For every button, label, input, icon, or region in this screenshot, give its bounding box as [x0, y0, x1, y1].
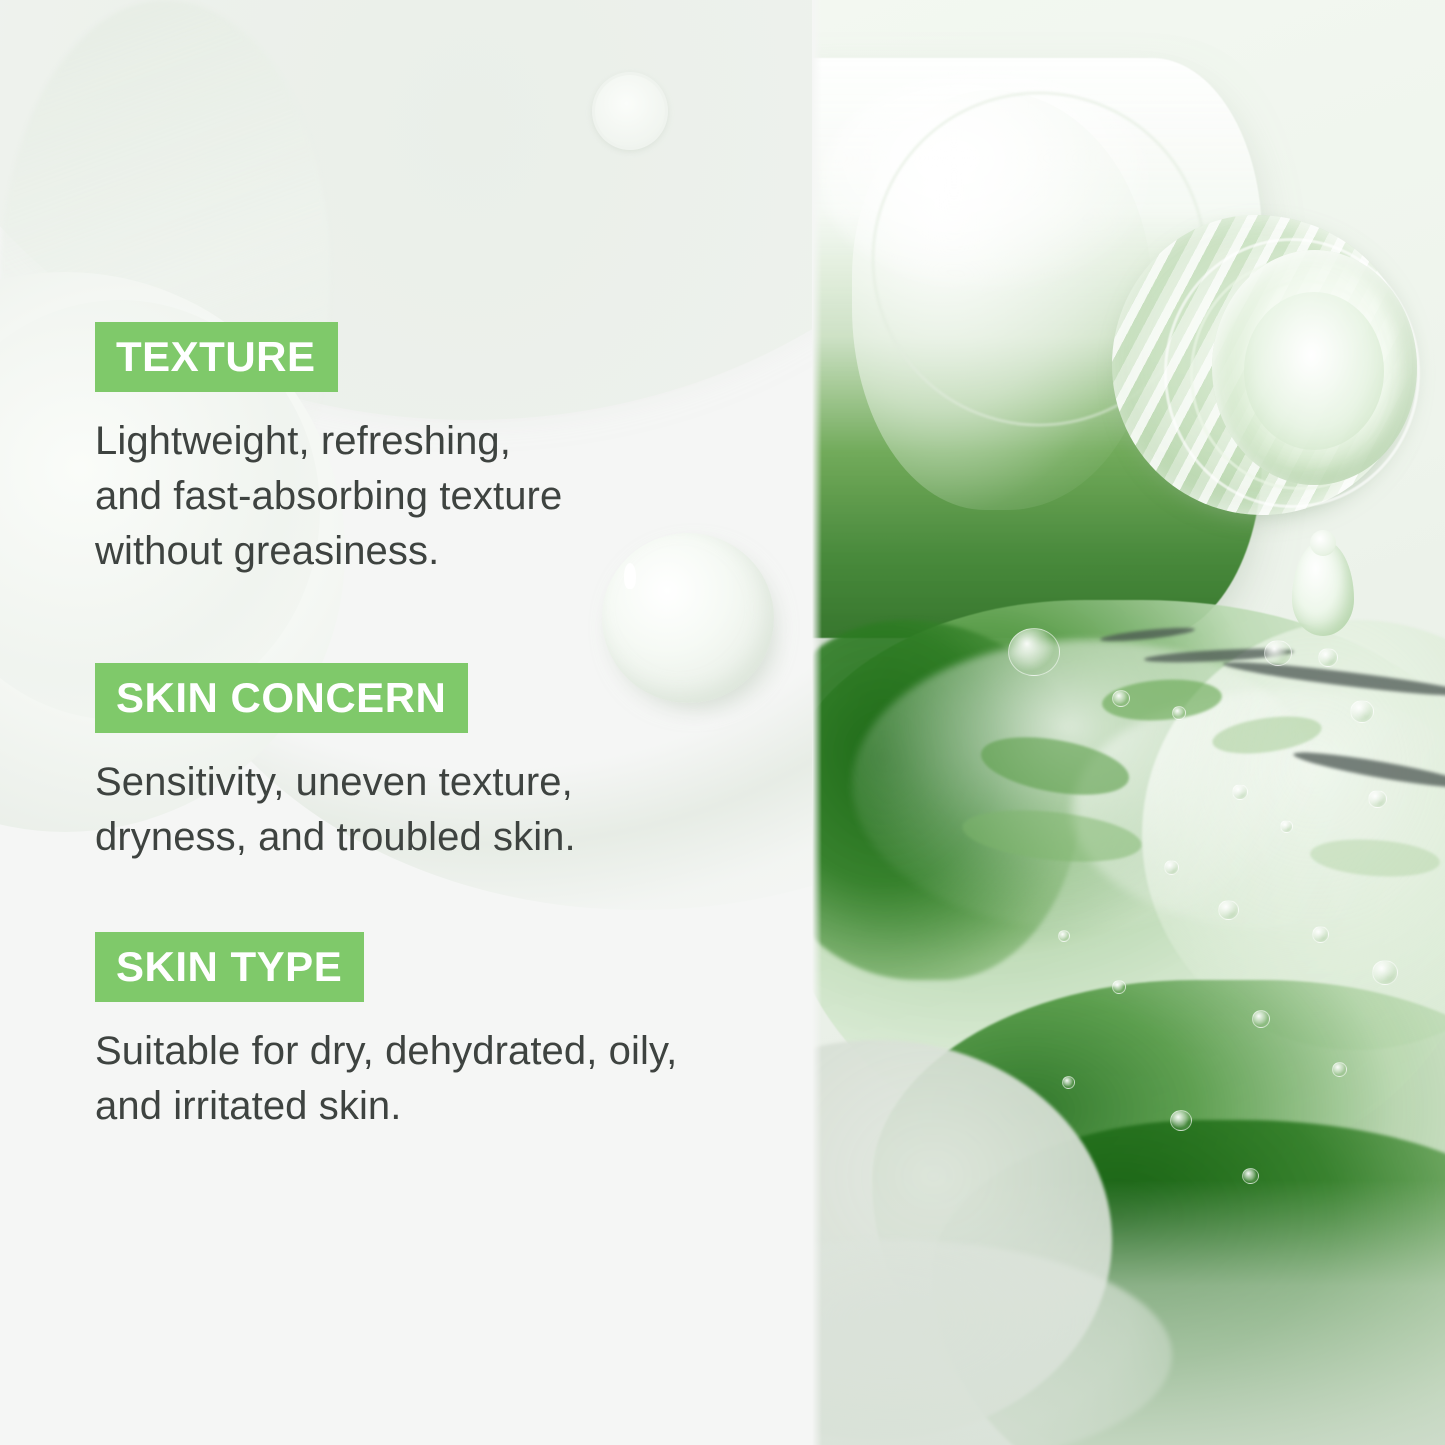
- air-bubble: [1280, 820, 1293, 833]
- air-bubble: [1112, 690, 1130, 707]
- air-bubble: [1218, 900, 1239, 920]
- spec-description-skin-type: Suitable for dry, dehydrated, oily, and …: [95, 1024, 677, 1134]
- spec-description-texture: Lightweight, refreshing, and fast-absorb…: [95, 414, 562, 579]
- spec-description-skin-concern: Sensitivity, uneven texture, dryness, an…: [95, 755, 576, 865]
- air-bubble: [1170, 1110, 1192, 1131]
- air-bubble: [1264, 640, 1292, 666]
- spec-item-skin-concern: SKIN CONCERN Sensitivity, uneven texture…: [95, 663, 576, 865]
- air-bubble: [1350, 700, 1374, 723]
- air-bubble: [1058, 930, 1070, 942]
- spec-list: TEXTURE Lightweight, refreshing, and fas…: [0, 0, 812, 1445]
- air-bubble: [1372, 960, 1398, 985]
- air-bubble: [1318, 648, 1338, 667]
- spec-item-skin-type: SKIN TYPE Suitable for dry, dehydrated, …: [95, 932, 677, 1134]
- falling-droplet-small: [1310, 530, 1336, 556]
- air-bubble: [1172, 706, 1186, 720]
- air-bubble: [1232, 784, 1248, 800]
- product-photo: [812, 0, 1445, 1445]
- air-bubble: [1008, 628, 1060, 676]
- air-bubble: [1062, 1076, 1075, 1089]
- air-bubble: [1312, 926, 1329, 943]
- product-spec-card: TEXTURE Lightweight, refreshing, and fas…: [0, 0, 1445, 1445]
- bottle-mouth-inner: [1244, 292, 1384, 450]
- spec-item-texture: TEXTURE Lightweight, refreshing, and fas…: [95, 322, 562, 579]
- air-bubble: [1332, 1062, 1347, 1077]
- air-bubble: [1368, 790, 1387, 808]
- air-bubble: [1252, 1010, 1270, 1028]
- photo-left-edge-fade: [812, 0, 822, 1445]
- air-bubble: [1112, 980, 1126, 994]
- air-bubble: [1164, 860, 1179, 875]
- spec-badge-skin-type: SKIN TYPE: [95, 932, 364, 1002]
- spec-badge-skin-concern: SKIN CONCERN: [95, 663, 468, 733]
- surface-floor-tint: [812, 1180, 1445, 1445]
- spec-badge-texture: TEXTURE: [95, 322, 338, 392]
